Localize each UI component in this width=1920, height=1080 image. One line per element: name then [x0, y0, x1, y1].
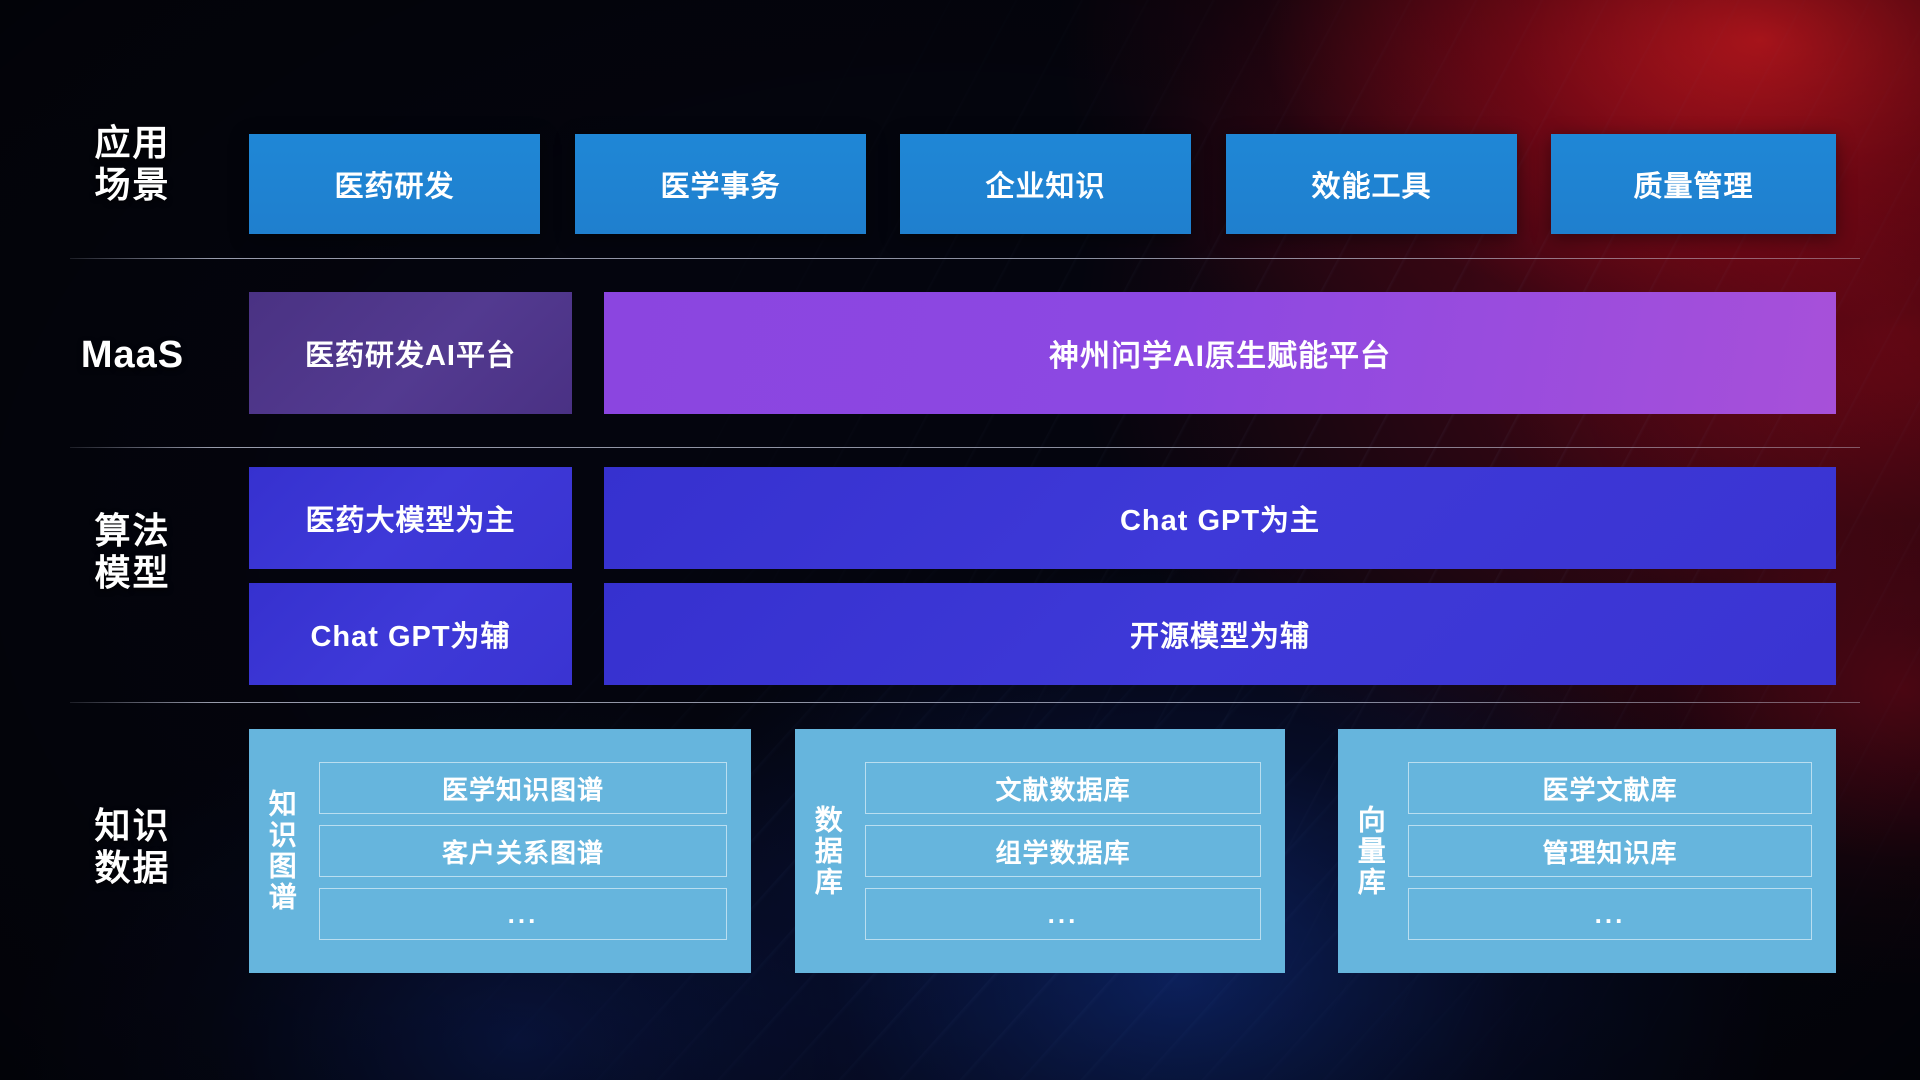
algo-box-pharma-llm-primary[interactable]: 医药大模型为主	[249, 467, 572, 569]
row-label-algorithm-model: 算法模型	[60, 510, 205, 595]
algo-box-chatgpt-secondary[interactable]: Chat GPT为辅	[249, 583, 572, 685]
knowledge-item[interactable]: 医学文献库	[1408, 762, 1812, 814]
row-label-application-scenario: 应用场景	[60, 122, 205, 207]
divider-1	[70, 258, 1860, 259]
maas-box-shenzhou-wenxue-platform-label: 神州问学AI原生赋能平台	[1049, 331, 1391, 375]
algo-box-opensource-secondary-label: 开源模型为辅	[1130, 613, 1310, 655]
scenario-box-4-label: 效能工具	[1311, 163, 1431, 205]
knowledge-panel-knowledge-graph-vertical-label: 知识图谱	[249, 729, 313, 973]
maas-box-shenzhou-wenxue-platform[interactable]: 神州问学AI原生赋能平台	[604, 292, 1836, 414]
architecture-diagram: 应用场景 医药研发 医学事务 企业知识 效能工具 质量管理 MaaS 医药研发A…	[0, 0, 1920, 1080]
row-label-knowledge-data: 知识数据	[60, 805, 205, 890]
knowledge-item-ellipsis[interactable]: ...	[865, 888, 1261, 940]
knowledge-panel-database[interactable]: 数据库 文献数据库 组学数据库 ...	[795, 729, 1285, 973]
algo-box-pharma-llm-primary-label: 医药大模型为主	[305, 497, 515, 539]
scenario-box-5-label: 质量管理	[1633, 163, 1753, 205]
knowledge-panel-vector-store-items: 医学文献库 管理知识库 ...	[1402, 729, 1836, 973]
algo-box-chatgpt-primary[interactable]: Chat GPT为主	[604, 467, 1836, 569]
divider-3	[70, 702, 1860, 703]
scenario-box-2-label: 医学事务	[660, 163, 780, 205]
knowledge-item-ellipsis[interactable]: ...	[319, 888, 727, 940]
divider-2	[70, 447, 1860, 448]
scenario-box-2[interactable]: 医学事务	[575, 134, 866, 234]
knowledge-item[interactable]: 管理知识库	[1408, 825, 1812, 877]
knowledge-panel-database-items: 文献数据库 组学数据库 ...	[859, 729, 1285, 973]
scenario-box-1[interactable]: 医药研发	[249, 134, 540, 234]
knowledge-item[interactable]: 组学数据库	[865, 825, 1261, 877]
scenario-box-3-label: 企业知识	[985, 163, 1105, 205]
algo-box-opensource-secondary[interactable]: 开源模型为辅	[604, 583, 1836, 685]
knowledge-item[interactable]: 医学知识图谱	[319, 762, 727, 814]
scenario-box-5[interactable]: 质量管理	[1551, 134, 1836, 234]
row-label-maas: MaaS	[60, 333, 205, 378]
knowledge-panel-database-vertical-label: 数据库	[795, 729, 859, 973]
knowledge-panel-knowledge-graph-items: 医学知识图谱 客户关系图谱 ...	[313, 729, 751, 973]
scenario-box-1-label: 医药研发	[334, 163, 454, 205]
algo-box-chatgpt-primary-label: Chat GPT为主	[1120, 497, 1320, 539]
knowledge-panel-knowledge-graph[interactable]: 知识图谱 医学知识图谱 客户关系图谱 ...	[249, 729, 751, 973]
scenario-box-3[interactable]: 企业知识	[900, 134, 1191, 234]
maas-box-pharma-ai-platform-label: 医药研发AI平台	[305, 332, 516, 374]
knowledge-panel-vector-store[interactable]: 向量库 医学文献库 管理知识库 ...	[1338, 729, 1836, 973]
knowledge-item[interactable]: 文献数据库	[865, 762, 1261, 814]
knowledge-item[interactable]: 客户关系图谱	[319, 825, 727, 877]
knowledge-panel-vector-store-vertical-label: 向量库	[1338, 729, 1402, 973]
maas-box-pharma-ai-platform[interactable]: 医药研发AI平台	[249, 292, 572, 414]
scenario-box-4[interactable]: 效能工具	[1226, 134, 1517, 234]
algo-box-chatgpt-secondary-label: Chat GPT为辅	[310, 613, 510, 655]
knowledge-item-ellipsis[interactable]: ...	[1408, 888, 1812, 940]
